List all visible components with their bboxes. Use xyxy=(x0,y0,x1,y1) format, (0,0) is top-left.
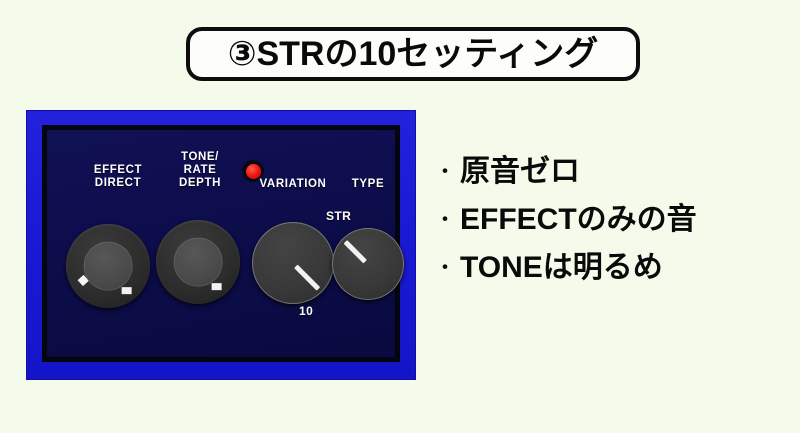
bullet-icon: ・ xyxy=(430,161,460,183)
knob-tone-pointer xyxy=(198,262,222,311)
knob-tone-cap xyxy=(174,238,223,287)
title-banner: ③STRの10セッティング xyxy=(186,27,640,81)
knob-tone-rate-depth[interactable] xyxy=(156,220,240,304)
knob-type[interactable] xyxy=(332,228,404,300)
knob-label-effect-direct: EFFECT DIRECT xyxy=(75,164,161,190)
list-item: ・ TONEは明るめ xyxy=(430,244,790,292)
knob-value-variation: 10 xyxy=(299,304,313,318)
list-item-label: TONEは明るめ xyxy=(460,253,663,283)
bullet-icon: ・ xyxy=(430,209,460,231)
page-title: ③STRの10セッティング xyxy=(228,37,599,71)
list-item-label: EFFECTのみの音 xyxy=(460,205,697,235)
list-item: ・ EFFECTのみの音 xyxy=(430,196,790,244)
knob-effect-direct-cap xyxy=(84,242,133,291)
pedal-faceplate: EFFECT DIRECT TONE/ RATE DEPTH VARIATION… xyxy=(42,125,400,362)
knob-variation[interactable] xyxy=(252,222,334,304)
led-dot xyxy=(246,164,261,179)
knob-effect-direct-pointer xyxy=(108,266,132,315)
knob-effect-direct[interactable] xyxy=(66,224,150,308)
bullet-icon: ・ xyxy=(430,257,460,279)
list-item-label: 原音ゼロ xyxy=(460,157,580,187)
knob-variation-pointer xyxy=(291,261,324,294)
knob-type-pointer xyxy=(341,237,370,266)
effects-pedal: EFFECT DIRECT TONE/ RATE DEPTH VARIATION… xyxy=(27,111,415,379)
knob-label-tone-rate-depth: TONE/ RATE DEPTH xyxy=(157,151,243,190)
notes-list: ・ 原音ゼロ ・ EFFECTのみの音 ・ TONEは明るめ xyxy=(430,148,790,292)
knob-label-type: TYPE xyxy=(337,178,399,191)
list-item: ・ 原音ゼロ xyxy=(430,148,790,196)
knob-label-variation: VARIATION xyxy=(245,178,341,191)
knob-value-type: STR xyxy=(326,209,351,223)
